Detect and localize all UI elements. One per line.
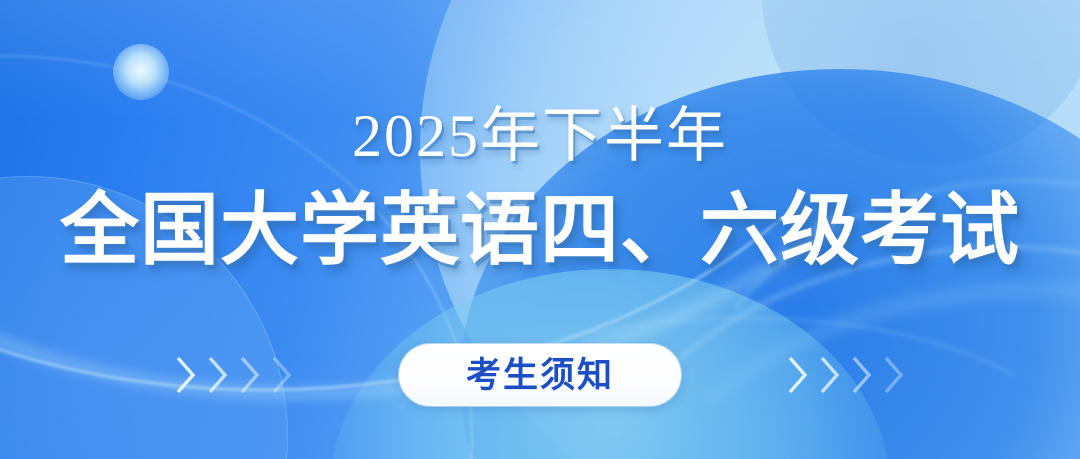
candidate-notice-badge[interactable]: 考生须知 (399, 344, 681, 406)
chevron-right-icon (173, 353, 199, 397)
banner-content: 2025年下半年 全国大学英语四、六级考试 考生须知 (0, 0, 1080, 459)
candidate-notice-badge-label: 考生须知 (466, 358, 614, 393)
chevron-right-icon (205, 353, 231, 397)
chevron-group-left (125, 353, 295, 397)
chevron-right-icon (849, 353, 875, 397)
chevron-right-icon (881, 353, 907, 397)
chevron-right-icon (817, 353, 843, 397)
chevron-right-icon (785, 353, 811, 397)
chevron-right-icon (237, 353, 263, 397)
chevron-right-icon (269, 353, 295, 397)
banner-title-line-1: 2025年下半年 (352, 106, 728, 166)
exam-notice-banner: 2025年下半年 全国大学英语四、六级考试 考生须知 (0, 0, 1080, 459)
chevron-group-right (785, 353, 955, 397)
banner-bottom-row: 考生须知 (0, 330, 1080, 420)
banner-title-line-2: 全国大学英语四、六级考试 (60, 192, 1020, 271)
